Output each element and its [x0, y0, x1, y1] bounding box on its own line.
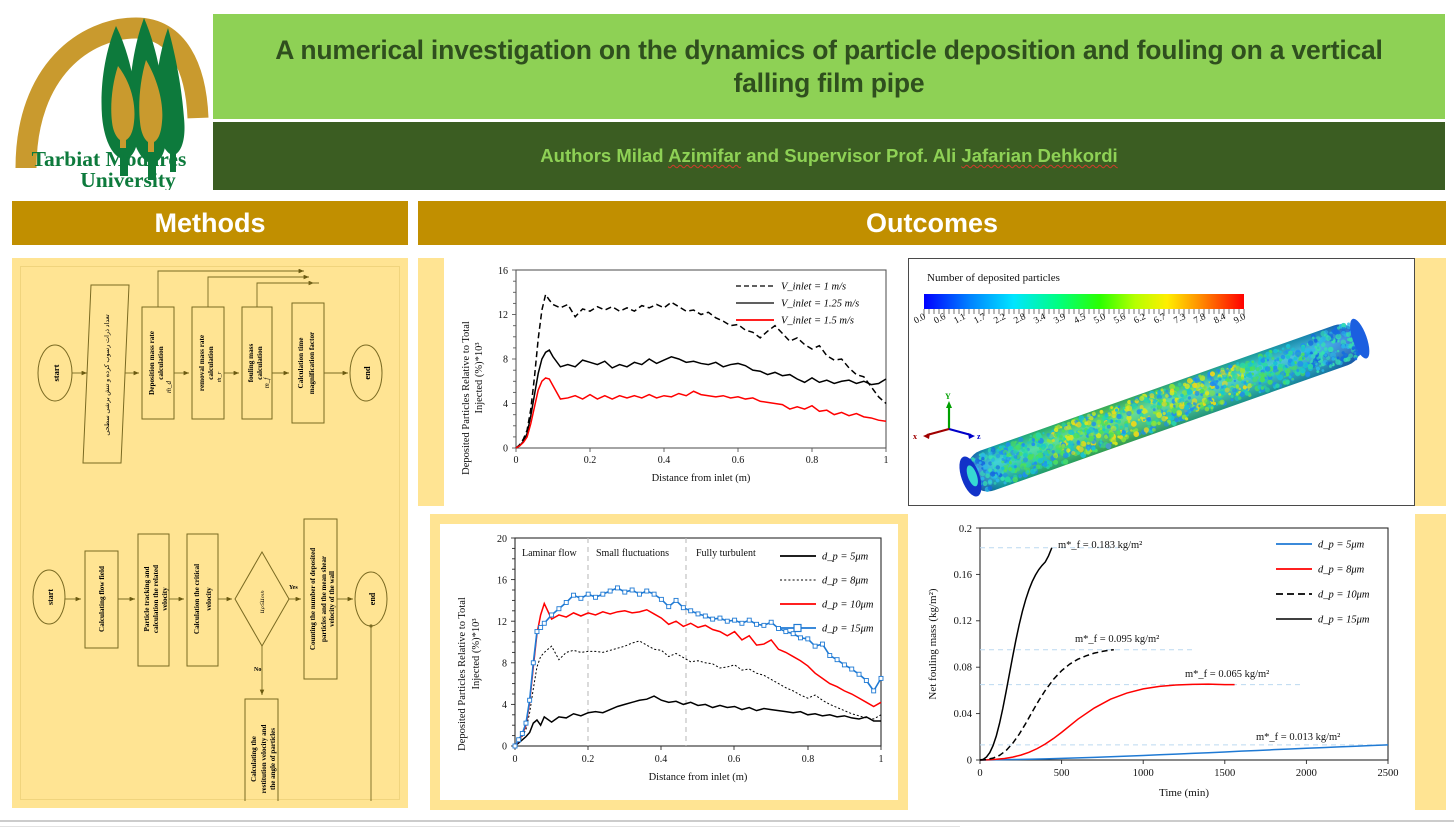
series-marker: [520, 732, 524, 736]
series-marker: [564, 600, 568, 604]
series-marker: [718, 616, 722, 620]
colorbar-tick-label: 0.6: [932, 312, 947, 327]
flow-top-deposition-label2: calculation: [157, 346, 165, 380]
chart3-right-strip: [1415, 514, 1446, 810]
axis-z-label: z: [977, 432, 981, 441]
colorbar-tick-label: 9.0: [1232, 312, 1247, 327]
flow-top-start-label: start: [51, 364, 61, 381]
series-line-0: [515, 696, 881, 746]
flow-bot-yes-label: Yes: [289, 585, 298, 591]
series-marker: [747, 618, 751, 622]
chart1-xlabel: Distance from inlet (m): [652, 473, 751, 484]
series-marker: [689, 609, 693, 613]
chart1-figure: 0 0.2 0.4 0.6 0.8 1 0 4 8 12 16 Distance…: [444, 258, 902, 506]
svg-text:0.2: 0.2: [584, 455, 597, 466]
colorbar-tick-label: 1.1: [952, 312, 967, 327]
svg-text:16: 16: [498, 266, 508, 277]
chart2-legend-item-0: d_p = 5μm: [822, 552, 869, 563]
colorbar-tick-label: 7.3: [1172, 312, 1187, 327]
chart3-ytick-labels: 0 0.04 0.08 0.12 0.16 0.2: [954, 524, 973, 767]
svg-text:0: 0: [514, 455, 519, 466]
series-marker: [542, 621, 546, 625]
flow-bot-restitution-label3: the angle of particles: [269, 728, 277, 790]
poster-root: Tarbiat Modares University A numerical i…: [0, 0, 1454, 831]
chart2-legend-item-2: d_p = 10μm: [822, 600, 874, 611]
chart3-annot-0: m*_f = 0.183 kg/m²: [1058, 540, 1142, 551]
chart3-ylabel: Net fouling mass (kg/m²): [927, 588, 939, 699]
svg-text:0: 0: [967, 756, 972, 767]
flow-bot-decision-label: uₚ≤uₘₕ: [257, 590, 266, 614]
chart2-ylabel-line1: Deposited Particles Relative to Total: [457, 597, 468, 751]
series-marker: [637, 592, 641, 596]
svg-text:2000: 2000: [1296, 768, 1317, 779]
colorbar-tick-label: 0.0: [912, 312, 927, 327]
chart2-figure: 0 0.2 0.4 0.6 0.8 1 0 4 8 12 16 20 Dista…: [440, 524, 898, 800]
flow-top-timefactor-label2: magnification factor: [308, 331, 316, 394]
flow-bot-counting-label3: velocity of the wall: [328, 571, 336, 627]
colorbar: [924, 294, 1244, 309]
pipe-body: [955, 316, 1373, 499]
svg-text:2500: 2500: [1378, 768, 1399, 779]
chart1-legend: V_inlet = 1 m/s V_inlet = 1.25 m/s V_inl…: [736, 282, 859, 327]
flow-bot-start-label: start: [46, 589, 55, 605]
series-marker: [513, 744, 517, 748]
series-marker: [594, 595, 598, 599]
svg-text:0.04: 0.04: [954, 709, 973, 720]
chart2-xlabel: Distance from inlet (m): [649, 772, 748, 783]
series-marker: [711, 617, 715, 621]
series-marker: [630, 588, 634, 592]
flow-bot-return-dot: [369, 624, 372, 627]
outcomes-title: Outcomes: [866, 208, 998, 239]
chart2-legend-item-3: d_p = 15μm: [822, 624, 874, 635]
bottom-divider: [0, 820, 1454, 822]
flowchart-top: start تعداد ذرات رسوب کرده و تنش برشی سط…: [38, 271, 382, 463]
series-marker: [524, 721, 528, 725]
chart3-annot-2: m*_f = 0.065 kg/m²: [1185, 669, 1269, 680]
series-marker: [755, 622, 759, 626]
series-marker: [572, 593, 576, 597]
series-marker: [579, 596, 583, 600]
series-marker: [615, 586, 619, 590]
colorbar-tick-label: 5.0: [1092, 312, 1107, 327]
flow-bot-counting-label: Counting the number of deposited: [309, 548, 317, 650]
chart3-asymptote-lines: [980, 548, 1388, 745]
poster-title-bar: A numerical investigation on the dynamic…: [213, 14, 1445, 119]
chart3-series-group: [980, 548, 1388, 760]
university-logo: Tarbiat Modares University: [8, 8, 213, 190]
flow-bot-no-label: No: [254, 667, 261, 673]
chart2-legend-item-1: d_p = 8μm: [822, 576, 869, 587]
svg-text:0: 0: [502, 742, 507, 753]
flow-bot-flowfield-label: Calculating flow field: [98, 566, 106, 632]
svg-text:0.8: 0.8: [802, 754, 815, 765]
chart2-ytick-labels: 0 4 8 12 16 20: [497, 534, 507, 753]
svg-text:0.08: 0.08: [954, 663, 972, 674]
chart1-legend-item-2: V_inlet = 1.5 m/s: [781, 316, 854, 327]
flow-bot-tracking-label2: calculation the related: [152, 565, 160, 633]
chart3-panel: 0 500 1000 1500 2000 2500 0 0.04 0.08 0.…: [908, 514, 1415, 810]
series-marker: [762, 623, 766, 627]
svg-text:1500: 1500: [1214, 768, 1235, 779]
svg-text:0.6: 0.6: [732, 455, 745, 466]
chart1-legend-item-0: V_inlet = 1 m/s: [781, 282, 846, 293]
flowchart-bottom: start Calculating flow field Particle tr…: [33, 519, 387, 801]
svg-text:500: 500: [1054, 768, 1070, 779]
flow-top-deposition-label: Deposition mass rate: [148, 331, 156, 395]
series-marker: [733, 618, 737, 622]
series-line-2: [516, 378, 886, 448]
flow-bot-restitution-label: Calculating the: [250, 736, 258, 782]
series-marker: [791, 632, 795, 636]
colorbar-tick-label: 2.8: [1012, 312, 1027, 327]
colorbar-tick-label: 3.4: [1032, 312, 1047, 327]
series-line-3: [980, 548, 1052, 760]
authors-bar: Authors Milad Azimifar and Supervisor Pr…: [213, 122, 1445, 190]
series-marker: [681, 606, 685, 610]
chart3-xlabel: Time (min): [1159, 787, 1209, 799]
logo-line2: University: [80, 168, 176, 190]
flow-top-fouling-label2: calculation: [256, 346, 264, 380]
logo-graphic: Tarbiat Modares University: [8, 8, 213, 190]
svg-text:0: 0: [503, 444, 508, 455]
series-marker: [539, 625, 543, 629]
pipe-figure: Number of deposited particles 0.00.61.11…: [909, 259, 1414, 505]
flow-top-deposition-sub: ṁ_d: [165, 380, 173, 393]
svg-text:Small fluctuations: Small fluctuations: [596, 548, 669, 559]
chart3-figure: 0 500 1000 1500 2000 2500 0 0.04 0.08 0.…: [908, 514, 1415, 810]
svg-text:0: 0: [513, 754, 518, 765]
chart3-axes: [976, 528, 1388, 764]
methods-flowcharts: start تعداد ذرات رسوب کرده و تنش برشی سط…: [21, 267, 401, 801]
methods-title: Methods: [155, 208, 266, 239]
series-marker: [879, 676, 883, 680]
chart3-legend-item-1: d_p = 8μm: [1318, 565, 1365, 576]
pipe-caption: Number of deposited particles: [927, 272, 1060, 284]
colorbar-tick-label: 6.7: [1152, 312, 1167, 327]
authors-prefix: Authors Milad: [540, 145, 668, 166]
flow-top-input-label: تعداد ذرات رسوب کرده و تنش برشی سطحی: [103, 314, 111, 435]
authors-mid: and Supervisor Prof. Ali: [741, 145, 961, 166]
flow-bot-tracking-label: Particle tracking and: [143, 566, 151, 631]
chart2-legend: d_p = 5μm d_p = 8μm d_p = 10μm d_p = 15μ…: [780, 552, 874, 635]
series-marker: [531, 661, 535, 665]
flow-bot-restitution-label2: restitution velocity and: [260, 725, 268, 794]
series-marker: [784, 630, 788, 634]
series-line-1: [516, 350, 886, 448]
series-marker: [777, 626, 781, 630]
series-marker: [864, 678, 868, 682]
svg-text:0.6: 0.6: [728, 754, 741, 765]
series-marker: [601, 592, 605, 596]
svg-text:1: 1: [879, 754, 884, 765]
chart3-legend-item-2: d_p = 10μm: [1318, 590, 1370, 601]
series-marker: [535, 630, 539, 634]
series-marker: [850, 667, 854, 671]
methods-inner-frame: start تعداد ذرات رسوب کرده و تنش برشی سط…: [20, 266, 400, 800]
series-marker: [725, 619, 729, 623]
series-marker: [828, 654, 832, 658]
flow-top-removal-label: removal mass rate: [198, 335, 206, 391]
pipe-right-strip: [1415, 258, 1446, 506]
series-marker: [557, 607, 561, 611]
chart1-ylabel-line2: Injected (%)*10³: [474, 342, 485, 413]
svg-text:0.12: 0.12: [954, 616, 972, 627]
axis-y-label: Y: [945, 392, 951, 401]
svg-text:0.4: 0.4: [655, 754, 668, 765]
colorbar-tick-labels: 0.00.61.11.72.22.83.43.94.55.05.66.26.77…: [912, 312, 1247, 327]
series-marker: [659, 597, 663, 601]
series-marker: [667, 605, 671, 609]
chart2-xtick-labels: 0 0.2 0.4 0.6 0.8 1: [513, 754, 884, 765]
colorbar-tick-label: 6.2: [1132, 312, 1147, 327]
series-marker: [645, 589, 649, 593]
chart2-region-annotations: Laminar flow Small fluctuations Fully tu…: [522, 548, 756, 559]
colorbar-tick-label: 4.5: [1072, 312, 1087, 327]
chart2-inner: 0 0.2 0.4 0.6 0.8 1 0 4 8 12 16 20 Dista…: [440, 524, 898, 800]
chart3-legend-item-0: d_p = 5μm: [1318, 540, 1365, 551]
page-title: A numerical investigation on the dynamic…: [235, 34, 1423, 99]
methods-panel: start تعداد ذرات رسوب کرده و تنش برشی سط…: [12, 258, 408, 808]
chart1-legend-item-1: V_inlet = 1.25 m/s: [781, 299, 859, 310]
series-line-0: [980, 745, 1388, 760]
svg-text:0.2: 0.2: [582, 754, 595, 765]
chart3-legend-item-3: d_p = 15μm: [1318, 615, 1370, 626]
series-marker: [872, 689, 876, 693]
series-marker: [806, 637, 810, 641]
chart1-ylabel-line1: Deposited Particles Relative to Total: [461, 321, 472, 475]
svg-text:Laminar flow: Laminar flow: [522, 548, 577, 559]
svg-text:0: 0: [977, 768, 982, 779]
svg-text:1: 1: [884, 455, 889, 466]
pipe-figure-panel: Number of deposited particles 0.00.61.11…: [908, 258, 1415, 506]
colorbar-tick-label: 8.4: [1212, 312, 1227, 327]
series-line-1: [515, 641, 881, 746]
colorbar-tick-label: 1.7: [972, 312, 987, 327]
svg-text:4: 4: [503, 399, 508, 410]
series-marker: [652, 592, 656, 596]
svg-text:0.8: 0.8: [806, 455, 819, 466]
series-marker: [528, 698, 532, 702]
series-marker: [703, 614, 707, 618]
chart1-xtick-labels: 0 0.2 0.4 0.6 0.8 1: [514, 455, 889, 466]
svg-text:8: 8: [502, 659, 507, 670]
svg-text:0.16: 0.16: [954, 570, 972, 581]
series-marker: [769, 620, 773, 624]
flow-bot-return-edge: [278, 627, 371, 801]
axis-x-label: x: [913, 432, 917, 441]
series-marker: [813, 644, 817, 648]
series-marker: [586, 592, 590, 596]
series-marker: [798, 636, 802, 640]
svg-text:8: 8: [503, 355, 508, 366]
axis-triad: Y z x: [913, 392, 981, 441]
flow-top-fouling-sub: m_f: [263, 377, 271, 389]
svg-text:1000: 1000: [1133, 768, 1154, 779]
series-marker: [842, 663, 846, 667]
series-marker: [517, 738, 521, 742]
svg-text:4: 4: [502, 700, 507, 711]
flow-top-fouling-label: fouling mass: [247, 344, 255, 383]
chart2-ylabel-line2: Injected (%)*10³: [471, 618, 482, 689]
series-line-1: [980, 684, 1235, 760]
series-marker: [857, 672, 861, 676]
flow-top-removal-label2: calculation: [207, 346, 215, 380]
series-marker: [696, 612, 700, 616]
flow-top-removal-sub: ṁ_r: [216, 371, 223, 382]
svg-text:0.4: 0.4: [658, 455, 671, 466]
svg-text:12: 12: [498, 310, 508, 321]
bottom-divider-2: [0, 826, 960, 827]
chart3-xtick-labels: 0 500 1000 1500 2000 2500: [977, 768, 1398, 779]
svg-text:12: 12: [497, 617, 507, 628]
series-marker: [740, 621, 744, 625]
series-marker: [623, 590, 627, 594]
chart2-panel: 0 0.2 0.4 0.6 0.8 1 0 4 8 12 16 20 Dista…: [430, 514, 908, 810]
author-name-1: Azimifar: [668, 145, 741, 166]
chart1-ytick-labels: 0 4 8 12 16: [498, 266, 508, 455]
flow-top-timefactor-label: Calculation time: [297, 338, 305, 389]
authors-line: Authors Milad Azimifar and Supervisor Pr…: [540, 145, 1117, 167]
author-name-2: Jafarian Dehkordi: [961, 145, 1117, 166]
flow-bot-counting-label2: particles and the mean shear: [320, 556, 328, 642]
chart1-left-strip: [418, 258, 444, 506]
section-header-methods: Methods: [12, 201, 408, 245]
flow-bot-end-label: end: [368, 592, 377, 605]
colorbar-tick-label: 3.9: [1052, 312, 1067, 327]
colorbar-tick-label: 5.6: [1112, 312, 1127, 327]
svg-text:Fully turbulent: Fully turbulent: [696, 548, 756, 559]
flow-bot-critical-label: Calculation the critical: [193, 564, 201, 634]
flow-top-end-label: end: [362, 366, 372, 380]
colorbar-tick-label: 7.8: [1192, 312, 1207, 327]
flow-top-feedback-edges: [158, 271, 319, 307]
series-marker: [550, 613, 554, 617]
chart3-annot-1: m*_f = 0.095 kg/m²: [1075, 634, 1159, 645]
flow-bot-tracking-label3: velocity: [161, 587, 169, 611]
series-marker: [835, 658, 839, 662]
chart3-annotations: m*_f = 0.183 kg/m² m*_f = 0.095 kg/m² m*…: [1058, 540, 1340, 743]
series-marker: [608, 589, 612, 593]
section-header-outcomes: Outcomes: [418, 201, 1446, 245]
chart3-annot-3: m*_f = 0.013 kg/m²: [1256, 732, 1340, 743]
series-marker: [820, 642, 824, 646]
svg-text:0.2: 0.2: [959, 524, 972, 535]
chart1-axes: [512, 270, 886, 452]
flow-bot-node-critical: [187, 534, 218, 666]
chart1-panel: 0 0.2 0.4 0.6 0.8 1 0 4 8 12 16 Distance…: [444, 258, 902, 506]
chart3-legend: d_p = 5μm d_p = 8μm d_p = 10μm d_p = 15μ…: [1276, 540, 1370, 626]
colorbar-tick-label: 2.2: [992, 312, 1007, 327]
svg-text:20: 20: [497, 534, 507, 545]
flow-bot-critical-label2: velocity: [205, 587, 213, 611]
svg-text:16: 16: [497, 576, 507, 587]
series-marker: [674, 598, 678, 602]
